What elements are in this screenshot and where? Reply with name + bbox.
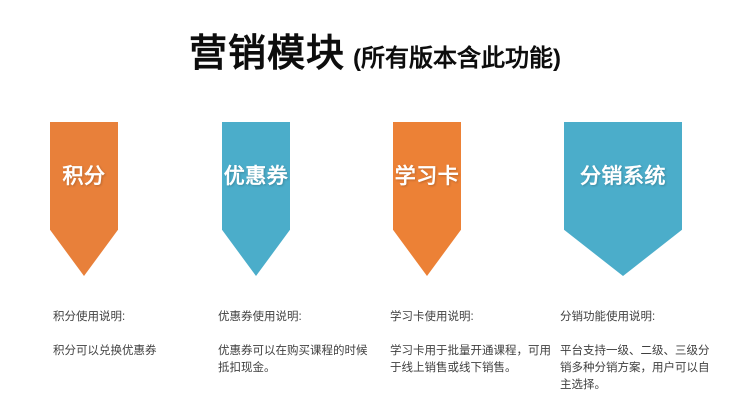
description-distribution-system: 分销功能使用说明: 平台支持一级、二级、三级分销多种分销方案，用户可以自主选择。	[560, 292, 720, 411]
description-row: 积分使用说明: 积分可以兑换优惠券 优惠券使用说明: 优惠券可以在购买课程的时候…	[0, 292, 750, 392]
banner-coupon[interactable]: 优惠券	[222, 122, 290, 276]
page-title-main: 营销模块	[189, 33, 345, 75]
description-heading-distribution-system: 分销功能使用说明:	[560, 309, 720, 326]
description-study-card: 学习卡使用说明: 学习卡用于批量开通课程，可用于线上销售或线下销售。	[390, 292, 555, 394]
description-heading-points: 积分使用说明:	[53, 309, 213, 326]
description-coupon: 优惠券使用说明: 优惠券可以在购买课程的时候抵扣现金。	[218, 292, 378, 394]
banner-label-coupon: 优惠券	[224, 160, 289, 190]
page-title: 营销模块(所有版本含此功能)	[0, 22, 750, 77]
banner-points[interactable]: 积分	[50, 122, 118, 276]
description-body-coupon: 优惠券可以在购买课程的时候抵扣现金。	[218, 343, 378, 377]
banner-label-distribution-system: 分销系统	[580, 160, 666, 190]
description-body-study-card: 学习卡用于批量开通课程，可用于线上销售或线下销售。	[390, 343, 555, 377]
description-body-distribution-system: 平台支持一级、二级、三级分销多种分销方案，用户可以自主选择。	[560, 343, 720, 394]
description-points: 积分使用说明: 积分可以兑换优惠券	[53, 292, 213, 377]
banner-label-points: 积分	[63, 160, 106, 190]
page-title-sub: (所有版本含此功能)	[353, 45, 561, 72]
banner-row: 积分 优惠券 学习卡 分销系统	[0, 122, 750, 278]
description-heading-study-card: 学习卡使用说明:	[390, 309, 555, 326]
description-heading-coupon: 优惠券使用说明:	[218, 309, 378, 326]
banner-study-card[interactable]: 学习卡	[393, 122, 461, 276]
banner-distribution-system[interactable]: 分销系统	[564, 122, 682, 276]
description-body-points: 积分可以兑换优惠券	[53, 343, 213, 360]
banner-label-study-card: 学习卡	[395, 160, 460, 190]
